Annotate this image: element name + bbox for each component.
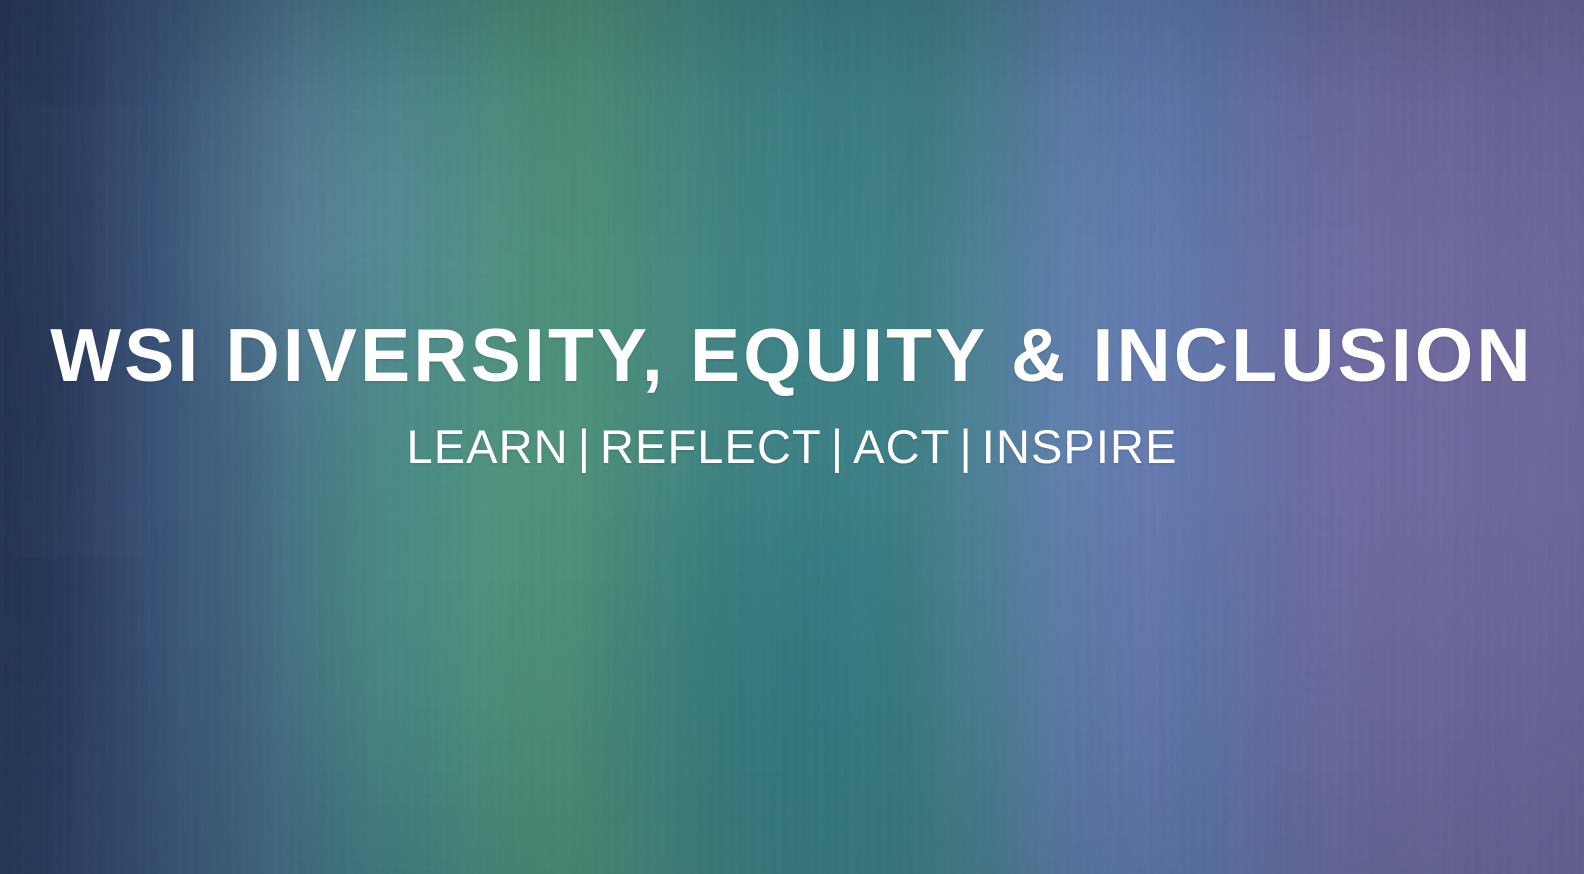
subtitle-word-act: ACT [853,420,950,473]
subtitle-word-reflect: REFLECT [600,420,822,473]
subtitle-word-inspire: INSPIRE [982,420,1178,473]
subtitle-separator-3: | [950,420,981,473]
banner-subtitle: LEARN|REFLECT|ACT|INSPIRE [0,423,1584,470]
subtitle-word-learn: LEARN [406,420,568,473]
subtitle-separator-2: | [822,420,853,473]
subtitle-separator-1: | [569,420,600,473]
banner-headline: WSI DIVERSITY, EQUITY & INCLUSION [0,318,1584,393]
banner-text-block: WSI DIVERSITY, EQUITY & INCLUSION LEARN|… [0,318,1584,470]
dei-hero-banner: WSI DIVERSITY, EQUITY & INCLUSION LEARN|… [0,0,1584,874]
purple-brush-edge [1053,420,1172,874]
